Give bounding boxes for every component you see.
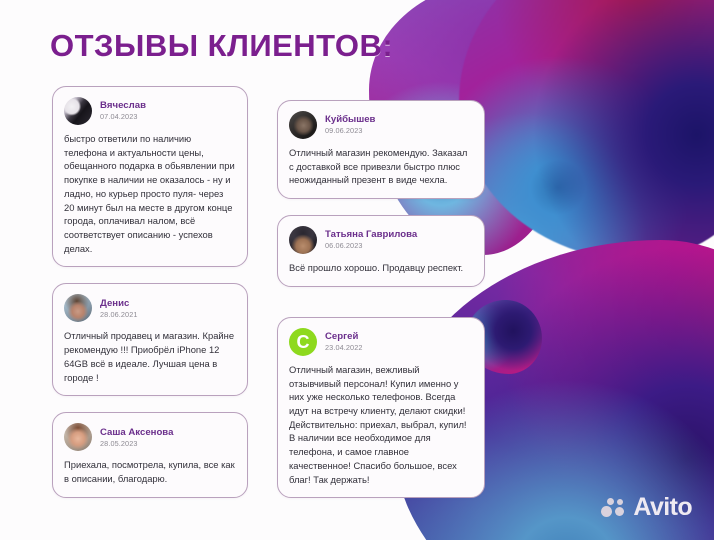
review-meta: Татьяна Гаврилова06.06.2023 (325, 229, 417, 251)
review-text: Отличный магазин, вежливый отзывчивый пе… (289, 363, 473, 486)
review-date: 28.05.2023 (100, 439, 173, 448)
reviewer-name: Вячеслав (100, 100, 146, 111)
gradient-blob-top-right (459, 0, 714, 260)
review-date: 23.04.2022 (325, 343, 363, 352)
avatar-photo (64, 423, 92, 451)
review-text: Отличный продавец и магазин. Крайне реко… (64, 329, 236, 384)
review-meta: Саша Аксенова28.05.2023 (100, 427, 173, 449)
review-date: 07.04.2023 (100, 112, 146, 121)
review-date: 09.06.2023 (325, 126, 375, 135)
review-text: Всё прошло хорошо. Продавцу респект. (289, 261, 473, 275)
review-date: 06.06.2023 (325, 241, 417, 250)
reviews-column-left: Вячеслав07.04.2023быстро ответили по нал… (52, 86, 248, 514)
review-card[interactable]: Саша Аксенова28.05.2023Приехала, посмотр… (52, 412, 248, 497)
review-card[interactable]: ССергей23.04.2022Отличный магазин, вежли… (277, 317, 485, 498)
reviewer-name: Куйбышев (325, 114, 375, 125)
review-card-header: Татьяна Гаврилова06.06.2023 (289, 226, 473, 254)
review-card[interactable]: Татьяна Гаврилова06.06.2023Всё прошло хо… (277, 215, 485, 287)
reviewer-name: Татьяна Гаврилова (325, 229, 417, 240)
avatar-photo (289, 226, 317, 254)
avito-dots-icon (601, 497, 627, 519)
avatar-photo (64, 97, 92, 125)
review-card-header: Саша Аксенова28.05.2023 (64, 423, 236, 451)
avito-logo: Avito (601, 495, 692, 520)
review-meta: Куйбышев09.06.2023 (325, 114, 375, 136)
review-text: Отличный магазин рекомендую. Заказал с д… (289, 146, 473, 187)
review-card-header: Куйбышев09.06.2023 (289, 111, 473, 139)
review-date: 28.06.2021 (100, 310, 138, 319)
avatar-photo (64, 294, 92, 322)
reviewer-name: Сергей (325, 331, 363, 342)
review-card-header: ССергей23.04.2022 (289, 328, 473, 356)
reviews-poster: ОТЗЫВЫ КЛИЕНТОВ: Вячеслав07.04.2023быстр… (0, 0, 714, 540)
review-meta: Сергей23.04.2022 (325, 331, 363, 353)
review-card[interactable]: Денис28.06.2021Отличный продавец и магаз… (52, 283, 248, 396)
review-text: Приехала, посмотрела, купила, все как в … (64, 458, 236, 485)
review-card[interactable]: Вячеслав07.04.2023быстро ответили по нал… (52, 86, 248, 267)
review-card-header: Вячеслав07.04.2023 (64, 97, 236, 125)
avito-wordmark: Avito (633, 495, 692, 520)
review-text: быстро ответили по наличию телефона и ак… (64, 132, 236, 255)
avatar-initial: С (289, 328, 317, 356)
review-card-header: Денис28.06.2021 (64, 294, 236, 322)
review-card[interactable]: Куйбышев09.06.2023Отличный магазин реком… (277, 100, 485, 199)
reviewer-name: Саша Аксенова (100, 427, 173, 438)
review-meta: Вячеслав07.04.2023 (100, 100, 146, 122)
reviews-column-right: Куйбышев09.06.2023Отличный магазин реком… (277, 86, 485, 514)
page-title: ОТЗЫВЫ КЛИЕНТОВ: (50, 28, 393, 64)
review-meta: Денис28.06.2021 (100, 298, 138, 320)
reviewer-name: Денис (100, 298, 138, 309)
avatar-photo (289, 111, 317, 139)
